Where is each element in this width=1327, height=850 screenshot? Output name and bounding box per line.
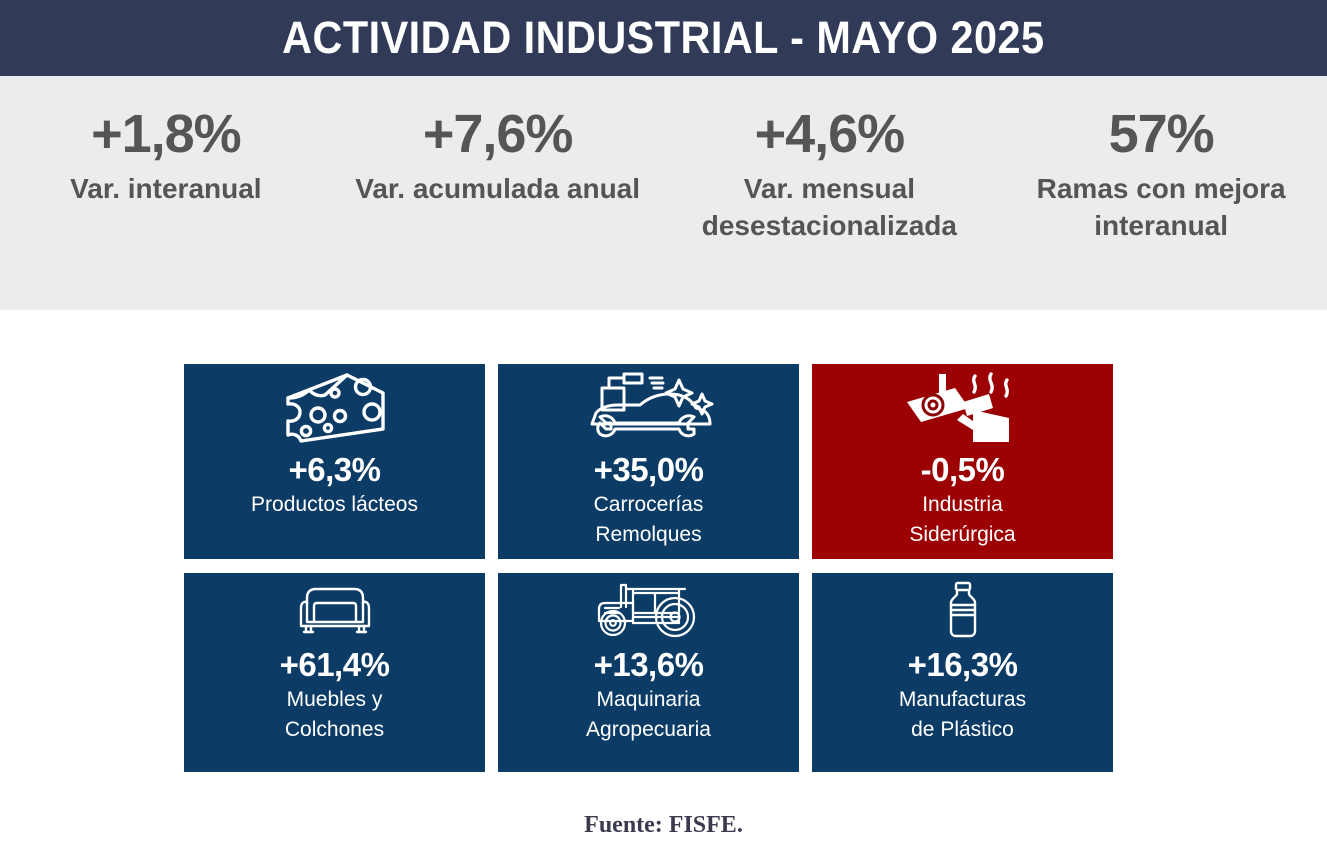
card-label-line1: Industria <box>909 490 1015 520</box>
card-label: Muebles y Colchones <box>285 685 384 745</box>
card-industria-siderurgica: -0,5% Industria Siderúrgica <box>812 364 1113 559</box>
tractor-icon <box>593 579 705 641</box>
kpi-label: Ramas con mejora interanual <box>1016 171 1306 245</box>
card-value: +35,0% <box>594 452 704 488</box>
card-label-line1: Carrocerías <box>594 490 704 520</box>
kpi-strip: +1,8% Var. interanual +7,6% Var. acumula… <box>0 76 1327 310</box>
plastic-bottle-icon <box>940 579 986 641</box>
card-label-line1: Maquinaria <box>586 685 711 715</box>
kpi-var-interanual: +1,8% Var. interanual <box>0 76 332 208</box>
card-label-line1: Muebles y <box>285 685 384 715</box>
card-value: +61,4% <box>280 647 390 683</box>
card-muebles-colchones: +61,4% Muebles y Colchones <box>184 573 485 772</box>
page-title: ACTIVIDAD INDUSTRIAL - MAYO 2025 <box>282 12 1044 64</box>
card-label: Manufacturas de Plástico <box>899 685 1026 745</box>
kpi-value: +7,6% <box>423 106 573 163</box>
card-value: -0,5% <box>921 452 1005 488</box>
card-label-line2: Agropecuaria <box>586 715 711 745</box>
car-body-repair-icon <box>584 370 714 450</box>
card-value: +6,3% <box>289 452 381 488</box>
steel-ladle-icon <box>903 370 1023 450</box>
card-maquinaria-agropecuaria: +13,6% Maquinaria Agropecuaria <box>498 573 799 772</box>
kpi-ramas-con-mejora: 57% Ramas con mejora interanual <box>995 76 1327 245</box>
sofa-icon <box>297 579 373 641</box>
card-label: Carrocerías Remolques <box>594 490 704 550</box>
card-label-line1: Productos lácteos <box>251 490 418 520</box>
sector-card-grid: +6,3% Productos lácteos <box>184 364 1113 772</box>
card-label-line2: de Plástico <box>899 715 1026 745</box>
card-label-line2: Remolques <box>594 520 704 550</box>
card-value: +16,3% <box>908 647 1018 683</box>
card-label: Productos lácteos <box>251 490 418 520</box>
kpi-var-acumulada-anual: +7,6% Var. acumulada anual <box>332 76 664 208</box>
card-label: Industria Siderúrgica <box>909 490 1015 550</box>
kpi-label: Var. interanual <box>70 171 261 208</box>
kpi-label: Var. acumulada anual <box>355 171 640 208</box>
card-productos-lacteos: +6,3% Productos lácteos <box>184 364 485 559</box>
infographic-page: ACTIVIDAD INDUSTRIAL - MAYO 2025 +1,8% V… <box>0 0 1327 850</box>
card-carrocerias-remolques: +35,0% Carrocerías Remolques <box>498 364 799 559</box>
kpi-var-mensual-desestacionalizada: +4,6% Var. mensual desestacionalizada <box>664 76 996 245</box>
kpi-value: 57% <box>1109 106 1214 163</box>
cheese-wedge-icon <box>271 370 399 450</box>
card-label-line2: Colchones <box>285 715 384 745</box>
source-note: Fuente: FISFE. <box>584 812 743 838</box>
kpi-label: Var. mensual desestacionalizada <box>684 171 974 245</box>
card-label-line1: Manufacturas <box>899 685 1026 715</box>
card-label: Maquinaria Agropecuaria <box>586 685 711 745</box>
card-label-line2: Siderúrgica <box>909 520 1015 550</box>
kpi-value: +4,6% <box>755 106 905 163</box>
card-value: +13,6% <box>594 647 704 683</box>
footer: Fuente: FISFE. <box>0 812 1327 839</box>
card-manufacturas-plastico: +16,3% Manufacturas de Plástico <box>812 573 1113 772</box>
kpi-value: +1,8% <box>91 106 241 163</box>
page-header: ACTIVIDAD INDUSTRIAL - MAYO 2025 <box>0 0 1327 76</box>
